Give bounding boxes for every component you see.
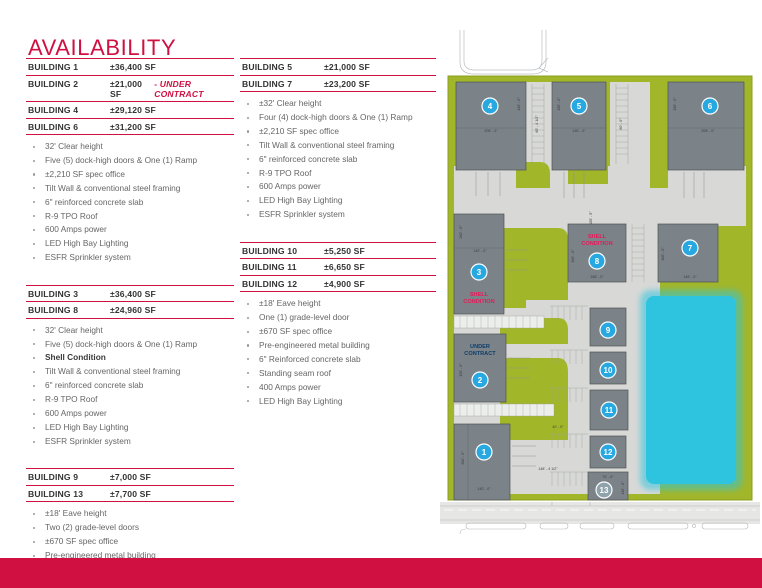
building-4-depth-dim: 140' - 0": [517, 97, 521, 111]
building-header-row[interactable]: BUILDING 3±36,400 SF: [26, 285, 234, 303]
spec-item: ±18' Eave height: [26, 507, 234, 520]
building-header-row[interactable]: BUILDING 10±5,250 SF: [240, 242, 436, 260]
spec-item: Five (5) dock-high doors & One (1) Ramp: [26, 338, 234, 351]
building-name: BUILDING 4: [28, 105, 110, 115]
building-name: BUILDING 1: [28, 62, 110, 72]
building-2-depth-dim: 150' - 0": [459, 363, 463, 377]
spec-item: R-9 TPO Roof: [240, 167, 436, 180]
spec-item: 400 Amps power: [240, 381, 436, 394]
footer-bar: [0, 558, 762, 588]
building-header-row[interactable]: BUILDING 6±31,200 SF: [26, 119, 234, 136]
building-3-depth-dim: 260' - 0": [459, 225, 463, 239]
spec-item: 600 Amps power: [26, 223, 234, 236]
building-size: ±6,650 SF: [324, 262, 365, 272]
spec-item: ESFR Sprinkler system: [26, 435, 234, 448]
drive-dim-e: 60' - 0": [619, 118, 623, 130]
building-2-marker[interactable]: 2: [478, 376, 483, 385]
building-name: BUILDING 12: [242, 279, 324, 289]
spec-item: 6" reinforced concrete slab: [26, 379, 234, 392]
building-name: BUILDING 5: [242, 62, 324, 72]
spec-item: Tilt Wall & conventional steel framing: [26, 182, 234, 195]
building-4-width-dim: 208' - 0": [484, 129, 498, 133]
building-header-row[interactable]: BUILDING 13±7,700 SF: [26, 486, 234, 503]
building-8[interactable]: SHELL CONDITION 8 156' - 0" 160' - 0": [568, 224, 626, 282]
drive-dim-d: 40' - 0": [552, 425, 564, 429]
availability-block: BUILDING 1±36,400 SFBUILDING 2±21,000 SF…: [26, 58, 234, 265]
building-name: BUILDING 13: [28, 489, 110, 499]
spec-item: Tilt Wall & conventional steel framing: [240, 139, 436, 152]
spec-item: LED High Bay Lighting: [26, 421, 234, 434]
building-name: BUILDING 7: [242, 79, 324, 89]
spec-item: Standing seam roof: [240, 367, 436, 380]
building-5[interactable]: 135' - 0" 150' - 0" 5: [552, 82, 606, 170]
building-name: BUILDING 6: [28, 122, 110, 132]
spec-list: 32' Clear heightFive (5) dock-high doors…: [26, 140, 234, 265]
building-8-width-dim: 156' - 0": [590, 275, 604, 279]
building-size: ±5,250 SF: [324, 246, 365, 256]
building-1-marker[interactable]: 1: [482, 448, 487, 457]
building-6-depth-dim: 150' - 0": [673, 97, 677, 111]
building-header-row[interactable]: BUILDING 9±7,000 SF: [26, 468, 234, 486]
availability-column-left: BUILDING 1±36,400 SFBUILDING 2±21,000 SF…: [26, 58, 234, 588]
spec-item: One (1) grade-level door: [240, 311, 436, 324]
spec-item: Pre-engineered metal building: [240, 339, 436, 352]
drive-dim-b: 185' - 5": [589, 211, 593, 225]
drive-dim-a: 60' - 4 1/2": [535, 115, 539, 133]
building-10[interactable]: 10: [590, 352, 626, 384]
building-6-marker[interactable]: 6: [708, 102, 713, 111]
building-size: ±36,400 SF: [110, 62, 156, 72]
building-5-width-dim: 135' - 0": [572, 129, 586, 133]
bottom-road: [440, 502, 760, 534]
spec-item: LED High Bay Lighting: [240, 194, 436, 207]
building-3-marker[interactable]: 3: [477, 268, 482, 277]
building-4[interactable]: 208' - 0" 140' - 0" 4: [456, 82, 526, 170]
building-size: ±29,120 SF: [110, 105, 156, 115]
spec-item: Four (4) dock-high doors & One (1) Ramp: [240, 111, 436, 124]
building-3-shell-tag-line1: SHELL: [470, 292, 489, 298]
spec-item: ESFR Sprinkler system: [26, 251, 234, 264]
building-9[interactable]: 9: [590, 308, 626, 346]
building-5-marker[interactable]: 5: [577, 102, 582, 111]
retention-pond: [640, 290, 742, 490]
spec-list: 32' Clear heightFive (5) dock-high doors…: [26, 324, 234, 449]
building-13-depth-dim: 110' - 0": [621, 481, 625, 495]
site-plan[interactable]: 208' - 0" 140' - 0" 4 135' - 0" 150' - 0…: [440, 28, 760, 538]
spec-item: Two (2) grade-level doors: [26, 521, 234, 534]
building-name: BUILDING 2: [28, 79, 110, 89]
spec-item: ±2,210 SF spec office: [240, 125, 436, 138]
building-size: ±23,200 SF: [324, 79, 370, 89]
spec-item: ESFR Sprinkler system: [240, 208, 436, 221]
building-3[interactable]: 140' - 0" 260' - 0" 3 SHELL CONDITION: [454, 214, 504, 314]
page-title: AVAILABILITY: [28, 35, 176, 61]
building-3-width-dim: 140' - 0": [473, 249, 487, 253]
spec-item: 6" Reinforced concrete slab: [240, 353, 436, 366]
building-size: ±36,400 SF: [110, 289, 156, 299]
building-header-row[interactable]: BUILDING 4±29,120 SF: [26, 102, 234, 119]
availability-block: BUILDING 5±21,000 SFBUILDING 7±23,200 SF…: [240, 58, 436, 222]
building-11[interactable]: 11: [590, 390, 628, 430]
availability-page: AVAILABILITY BUILDING 1±36,400 SFBUILDIN…: [0, 0, 762, 588]
building-13-width-dim: 70' - 0": [602, 475, 614, 479]
building-name: BUILDING 11: [242, 262, 324, 272]
building-10-marker[interactable]: 10: [604, 366, 613, 375]
building-size: ±21,000 SF: [324, 62, 370, 72]
availability-block: BUILDING 3±36,400 SFBUILDING 8±24,960 SF…: [26, 285, 234, 449]
building-header-row[interactable]: BUILDING 5±21,000 SF: [240, 58, 436, 76]
building-header-row[interactable]: BUILDING 2±21,000 SF- UNDER CONTRACT: [26, 76, 234, 103]
building-8-marker[interactable]: 8: [595, 257, 600, 266]
spec-item: R-9 TPO Roof: [26, 393, 234, 406]
spec-item: 32' Clear height: [26, 140, 234, 153]
building-6-width-dim: 208' - 0": [701, 129, 715, 133]
building-5-depth-dim: 150' - 0": [557, 97, 561, 111]
building-2[interactable]: 150' - 0" UNDER CONTRACT 2: [454, 334, 506, 402]
building-2-contract-tag-line1: UNDER: [470, 344, 490, 350]
spec-item: ±18' Eave height: [240, 297, 436, 310]
building-size: ±24,960 SF: [110, 305, 156, 315]
spec-item: ±32' Clear height: [240, 97, 436, 110]
building-name: BUILDING 8: [28, 305, 110, 315]
building-status-note: - UNDER CONTRACT: [154, 79, 234, 99]
building-7-marker[interactable]: 7: [688, 244, 693, 253]
building-11-marker[interactable]: 11: [605, 406, 614, 415]
spec-item: LED High Bay Lighting: [240, 395, 436, 408]
spec-item: 32' Clear height: [26, 324, 234, 337]
building-size: ±4,900 SF: [324, 279, 365, 289]
building-7-depth-dim: 160' - 0": [661, 247, 665, 261]
spec-item: ±670 SF spec office: [240, 325, 436, 338]
building-size: ±7,700 SF: [110, 489, 151, 499]
building-size: ±31,200 SF: [110, 122, 156, 132]
availability-column-right: BUILDING 5±21,000 SFBUILDING 7±23,200 SF…: [240, 58, 436, 408]
spec-item: Five (5) dock-high doors & One (1) Ramp: [26, 154, 234, 167]
building-1-width-dim: 140' - 0": [477, 487, 491, 491]
spec-item: ±2,210 SF spec office: [26, 168, 234, 181]
building-7-width-dim: 145' - 0": [683, 275, 697, 279]
spec-list: ±18' Eave heightOne (1) grade-level door…: [240, 297, 436, 408]
building-name: BUILDING 3: [28, 289, 110, 299]
building-header-row[interactable]: BUILDING 12±4,900 SF: [240, 276, 436, 293]
spec-item: ±670 SF spec office: [26, 535, 234, 548]
availability-block: BUILDING 10±5,250 SFBUILDING 11±6,650 SF…: [240, 242, 436, 408]
building-3-shell-tag-line2: CONDITION: [463, 299, 494, 305]
building-4-marker[interactable]: 4: [488, 102, 493, 111]
building-12-marker[interactable]: 12: [604, 448, 613, 457]
building-13-marker[interactable]: 13: [600, 486, 609, 495]
building-8-shell-tag-line2: CONDITION: [581, 241, 612, 247]
building-header-row[interactable]: BUILDING 7±23,200 SF: [240, 76, 436, 93]
spec-item: R-9 TPO Roof: [26, 210, 234, 223]
building-1-depth-dim: 260' - 0": [461, 451, 465, 465]
building-size: ±7,000 SF: [110, 472, 151, 482]
spec-item: 6" reinforced concrete slab: [240, 153, 436, 166]
spec-item: Shell Condition: [26, 351, 234, 364]
building-1[interactable]: 260' - 0" 140' - 0" 1: [454, 424, 510, 500]
spec-item: 6" reinforced concrete slab: [26, 196, 234, 209]
building-9-marker[interactable]: 9: [606, 326, 611, 335]
building-name: BUILDING 9: [28, 472, 110, 482]
building-7[interactable]: 7 145' - 0" 160' - 0": [658, 224, 718, 282]
building-6[interactable]: 208' - 0" 150' - 0" 6: [668, 82, 744, 170]
spec-item: 600 Amps power: [240, 180, 436, 193]
building-8-shell-tag-line1: SHELL: [588, 234, 607, 240]
drive-dim-c: 148' - 4 1/2": [538, 467, 558, 471]
building-13[interactable]: 70' - 0" 110' - 0" 13: [588, 472, 628, 500]
spec-list: ±32' Clear heightFour (4) dock-high door…: [240, 97, 436, 222]
building-12[interactable]: 12: [590, 436, 626, 468]
building-header-row[interactable]: BUILDING 11±6,650 SF: [240, 259, 436, 276]
spec-item: Tilt Wall & conventional steel framing: [26, 365, 234, 378]
building-name: BUILDING 10: [242, 246, 324, 256]
spec-item: 600 Amps power: [26, 407, 234, 420]
building-header-row[interactable]: BUILDING 8±24,960 SF: [26, 302, 234, 319]
building-size: ±21,000 SF: [110, 79, 151, 99]
building-header-row[interactable]: BUILDING 1±36,400 SF: [26, 58, 234, 76]
spec-item: LED High Bay Lighting: [26, 237, 234, 250]
building-2-contract-tag-line2: CONTRACT: [464, 351, 496, 357]
building-8-depth-dim: 160' - 0": [571, 249, 575, 263]
